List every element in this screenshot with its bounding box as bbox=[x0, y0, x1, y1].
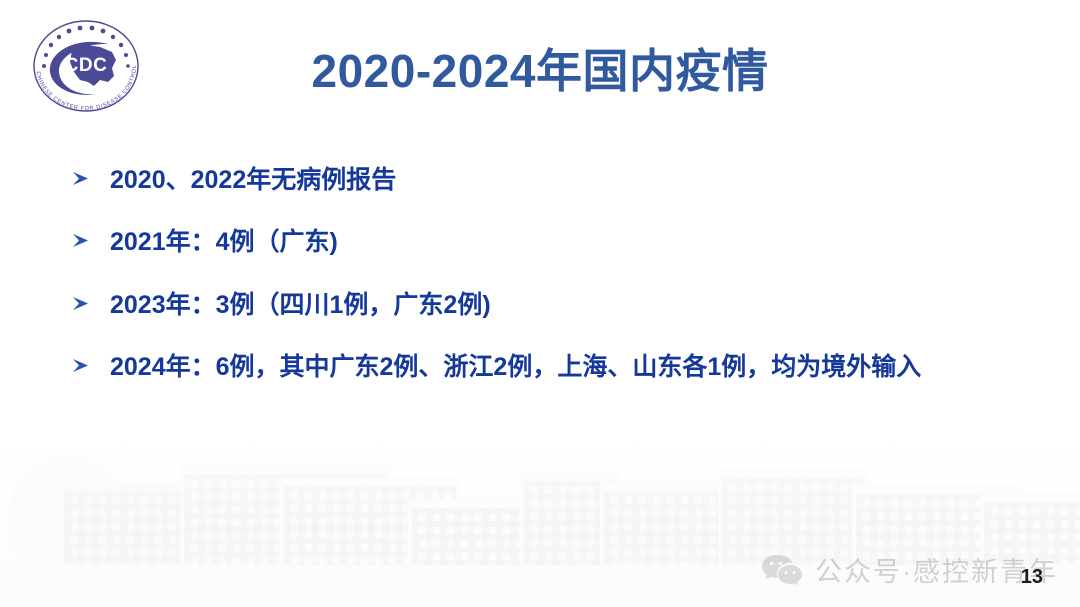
background-tree bbox=[8, 451, 128, 581]
bullet-item-3-text: 2023年：3例（四川1例，广东2例) bbox=[110, 287, 1032, 323]
background-building bbox=[600, 482, 740, 577]
background-building bbox=[60, 482, 290, 577]
page-number: 13 bbox=[1021, 567, 1043, 587]
bullet-item-4-text: 2024年：6例，其中广东2例、浙江2例，上海、山东各1例，均为境外输入 bbox=[110, 349, 1032, 385]
background-building bbox=[180, 465, 390, 577]
background-building bbox=[280, 477, 460, 577]
campus-background-photo bbox=[0, 407, 1080, 607]
bullet-item-2-text: 2021年：4例（广东) bbox=[110, 224, 1032, 260]
background-fade-overlay bbox=[0, 407, 1080, 607]
bullet-item-3: 2023年：3例（四川1例，广东2例) bbox=[72, 287, 1032, 323]
bullet-list: 2020、2022年无病例报告 2021年：4例（广东) 2023年：3例（四川… bbox=[72, 162, 1032, 385]
slide: CDC CHINESE CENTER FOR DISEASE CONTROL A… bbox=[0, 0, 1080, 607]
background-ground bbox=[0, 565, 1080, 607]
bullet-item-2: 2021年：4例（广东) bbox=[72, 224, 1032, 260]
background-tree bbox=[318, 529, 378, 581]
wechat-icon bbox=[761, 553, 803, 587]
background-tree bbox=[140, 511, 210, 581]
arrow-bullet-icon bbox=[72, 224, 110, 248]
background-building bbox=[980, 493, 1080, 577]
bullet-item-1: 2020、2022年无病例报告 bbox=[72, 162, 1032, 198]
background-tree bbox=[770, 533, 826, 581]
bullet-item-4: 2024年：6例，其中广东2例、浙江2例，上海、山东各1例，均为境外输入 bbox=[72, 349, 1032, 385]
arrow-bullet-icon bbox=[72, 287, 110, 311]
bullet-item-1-text: 2020、2022年无病例报告 bbox=[110, 162, 1032, 198]
arrow-bullet-icon bbox=[72, 349, 110, 373]
background-building bbox=[718, 469, 868, 577]
background-building bbox=[520, 472, 620, 577]
background-building bbox=[408, 499, 533, 577]
background-building bbox=[852, 485, 1022, 577]
arrow-bullet-icon bbox=[72, 162, 110, 186]
background-sky bbox=[0, 407, 1080, 607]
wechat-watermark: 公众号·感控新青年 bbox=[761, 550, 1058, 589]
slide-title: 2020-2024年国内疫情 bbox=[0, 46, 1080, 97]
